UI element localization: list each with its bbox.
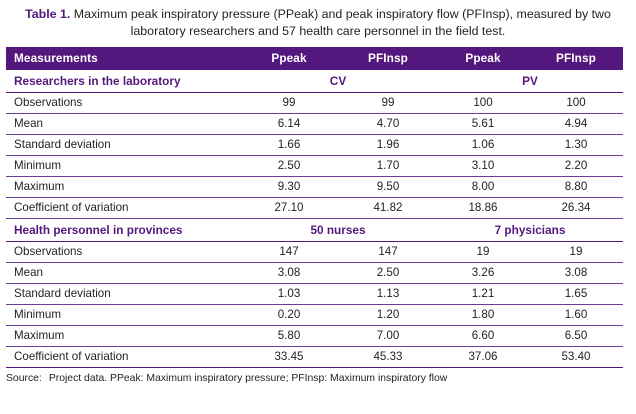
source-label: Source: bbox=[6, 373, 42, 384]
cell-value: 33.45 bbox=[239, 347, 339, 368]
column-header-measurements: Measurements bbox=[6, 47, 239, 70]
row-label: Coefficient of variation bbox=[6, 198, 239, 219]
group-label-nurses: 50 nurses bbox=[239, 219, 437, 242]
cell-value: 1.20 bbox=[339, 305, 437, 326]
table-row: Standard deviation 1.66 1.96 1.06 1.30 bbox=[6, 135, 623, 156]
cell-value: 99 bbox=[339, 93, 437, 114]
cell-value: 4.70 bbox=[339, 114, 437, 135]
column-header-ppeak-pv: Ppeak bbox=[437, 47, 529, 70]
cell-value: 7.00 bbox=[339, 326, 437, 347]
cell-value: 100 bbox=[529, 93, 623, 114]
cell-value: 53.40 bbox=[529, 347, 623, 368]
cell-value: 1.70 bbox=[339, 156, 437, 177]
cell-value: 4.94 bbox=[529, 114, 623, 135]
row-label: Maximum bbox=[6, 326, 239, 347]
cell-value: 9.30 bbox=[239, 177, 339, 198]
cell-value: 45.33 bbox=[339, 347, 437, 368]
section-label-health-personnel: Health personnel in provinces bbox=[6, 219, 239, 242]
row-label: Coefficient of variation bbox=[6, 347, 239, 368]
cell-value: 1.03 bbox=[239, 284, 339, 305]
cell-value: 41.82 bbox=[339, 198, 437, 219]
cell-value: 5.80 bbox=[239, 326, 339, 347]
group-label-physicians: 7 physicians bbox=[437, 219, 623, 242]
table-caption-text: Maximum peak inspiratory pressure (PPeak… bbox=[70, 7, 611, 38]
table-row: Standard deviation 1.03 1.13 1.21 1.65 bbox=[6, 284, 623, 305]
row-label: Observations bbox=[6, 242, 239, 263]
section-header-row-health-personnel: Health personnel in provinces 50 nurses … bbox=[6, 219, 623, 242]
table-figure-page: Table 1. Maximum peak inspiratory pressu… bbox=[0, 0, 636, 414]
table-row: Observations 147 147 19 19 bbox=[6, 242, 623, 263]
cell-value: 1.60 bbox=[529, 305, 623, 326]
table-row: Maximum 9.30 9.50 8.00 8.80 bbox=[6, 177, 623, 198]
section-header-row-researchers: Researchers in the laboratory CV PV bbox=[6, 70, 623, 93]
table-row: Coefficient of variation 33.45 45.33 37.… bbox=[6, 347, 623, 368]
cell-value: 99 bbox=[239, 93, 339, 114]
cell-value: 6.14 bbox=[239, 114, 339, 135]
table-row: Mean 6.14 4.70 5.61 4.94 bbox=[6, 114, 623, 135]
table-caption: Table 1. Maximum peak inspiratory pressu… bbox=[0, 0, 636, 44]
row-label: Minimum bbox=[6, 156, 239, 177]
table-row: Coefficient of variation 27.10 41.82 18.… bbox=[6, 198, 623, 219]
table-row: Maximum 5.80 7.00 6.60 6.50 bbox=[6, 326, 623, 347]
cell-value: 5.61 bbox=[437, 114, 529, 135]
cell-value: 26.34 bbox=[529, 198, 623, 219]
cell-value: 2.20 bbox=[529, 156, 623, 177]
cell-value: 147 bbox=[339, 242, 437, 263]
cell-value: 2.50 bbox=[339, 263, 437, 284]
row-label: Standard deviation bbox=[6, 135, 239, 156]
table-number-label: Table 1. bbox=[25, 7, 70, 21]
row-label: Standard deviation bbox=[6, 284, 239, 305]
cell-value: 3.10 bbox=[437, 156, 529, 177]
row-label: Maximum bbox=[6, 177, 239, 198]
cell-value: 1.96 bbox=[339, 135, 437, 156]
cell-value: 9.50 bbox=[339, 177, 437, 198]
cell-value: 3.26 bbox=[437, 263, 529, 284]
column-header-pfinsp-pv: PFInsp bbox=[529, 47, 623, 70]
cell-value: 1.30 bbox=[529, 135, 623, 156]
source-text: Project data. PPeak: Maximum inspiratory… bbox=[49, 373, 447, 384]
cell-value: 19 bbox=[437, 242, 529, 263]
cell-value: 27.10 bbox=[239, 198, 339, 219]
cell-value: 1.06 bbox=[437, 135, 529, 156]
section-label-researchers: Researchers in the laboratory bbox=[6, 70, 239, 93]
statistics-table: Measurements Ppeak PFInsp Ppeak PFInsp R… bbox=[6, 47, 623, 368]
cell-value: 1.80 bbox=[437, 305, 529, 326]
table-row: Minimum 2.50 1.70 3.10 2.20 bbox=[6, 156, 623, 177]
column-header-ppeak-cv: Ppeak bbox=[239, 47, 339, 70]
cell-value: 6.60 bbox=[437, 326, 529, 347]
cell-value: 1.66 bbox=[239, 135, 339, 156]
cell-value: 37.06 bbox=[437, 347, 529, 368]
table-container: Measurements Ppeak PFInsp Ppeak PFInsp R… bbox=[6, 47, 623, 368]
table-header-row: Measurements Ppeak PFInsp Ppeak PFInsp bbox=[6, 47, 623, 70]
cell-value: 1.21 bbox=[437, 284, 529, 305]
cell-value: 147 bbox=[239, 242, 339, 263]
cell-value: 8.00 bbox=[437, 177, 529, 198]
cell-value: 1.65 bbox=[529, 284, 623, 305]
row-label: Mean bbox=[6, 263, 239, 284]
row-label: Minimum bbox=[6, 305, 239, 326]
cell-value: 100 bbox=[437, 93, 529, 114]
group-label-pv: PV bbox=[437, 70, 623, 93]
column-header-pfinsp-cv: PFInsp bbox=[339, 47, 437, 70]
cell-value: 0.20 bbox=[239, 305, 339, 326]
source-note: Source:Project data. PPeak: Maximum insp… bbox=[6, 372, 630, 386]
group-label-cv: CV bbox=[239, 70, 437, 93]
cell-value: 19 bbox=[529, 242, 623, 263]
cell-value: 6.50 bbox=[529, 326, 623, 347]
cell-value: 3.08 bbox=[529, 263, 623, 284]
row-label: Mean bbox=[6, 114, 239, 135]
cell-value: 18.86 bbox=[437, 198, 529, 219]
table-row: Observations 99 99 100 100 bbox=[6, 93, 623, 114]
table-row: Mean 3.08 2.50 3.26 3.08 bbox=[6, 263, 623, 284]
cell-value: 8.80 bbox=[529, 177, 623, 198]
cell-value: 1.13 bbox=[339, 284, 437, 305]
cell-value: 3.08 bbox=[239, 263, 339, 284]
row-label: Observations bbox=[6, 93, 239, 114]
table-row: Minimum 0.20 1.20 1.80 1.60 bbox=[6, 305, 623, 326]
cell-value: 2.50 bbox=[239, 156, 339, 177]
